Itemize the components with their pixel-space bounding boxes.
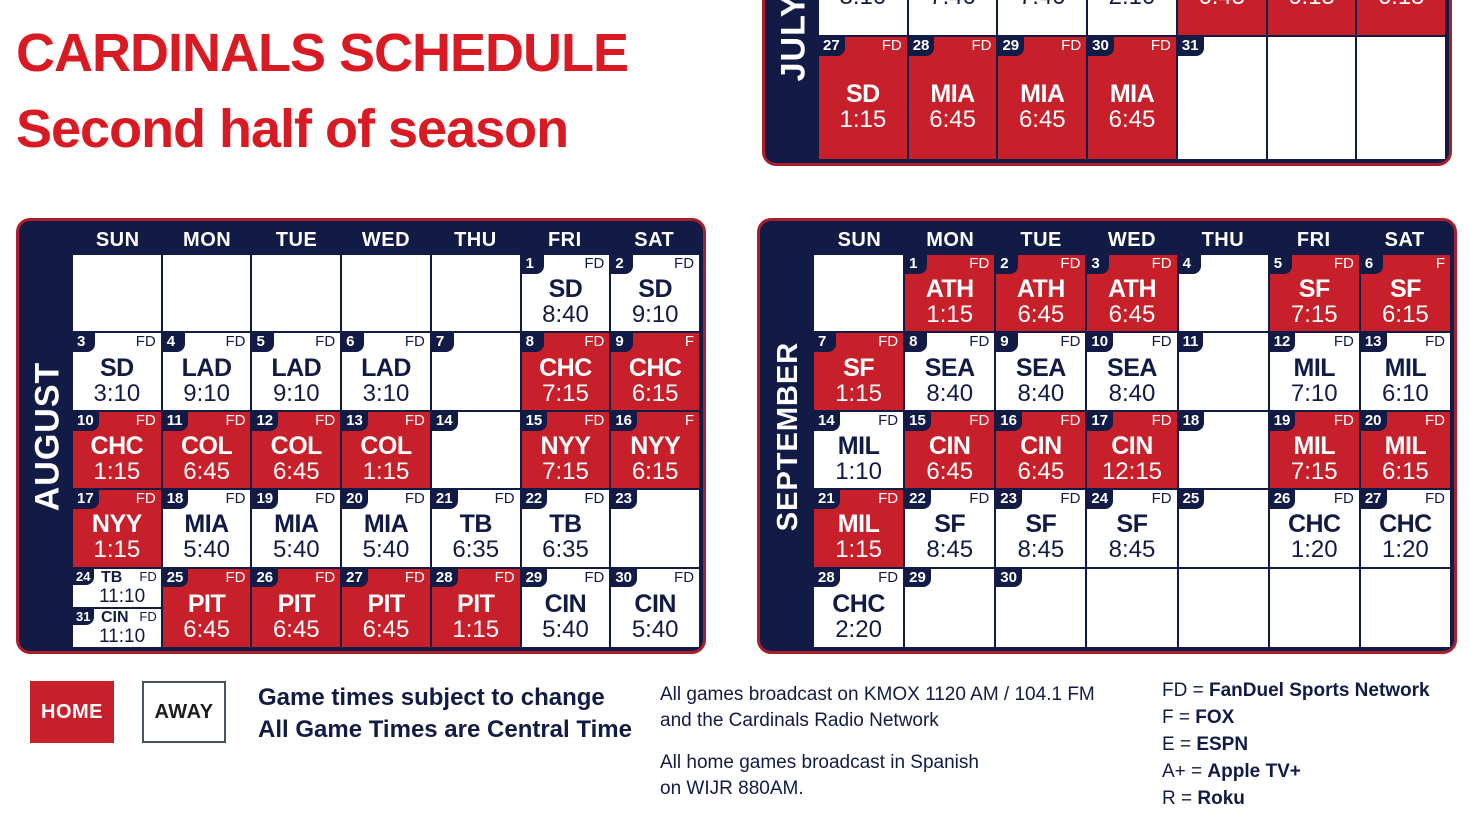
calendar-september: SEPTEMBER SUNMONTUEWEDTHUFRISAT1FDATH1:1… xyxy=(757,218,1457,654)
opponent-abbrev: SD xyxy=(638,277,672,302)
tv-legend-value: Apple TV+ xyxy=(1207,761,1300,782)
tv-legend-key: R = xyxy=(1162,788,1197,809)
calendar-cell-game[interactable]: 3FDSD3:10 xyxy=(73,333,163,411)
network-badge: FD xyxy=(674,256,694,272)
calendar-cell-game[interactable]: 17FDCIN12:15 xyxy=(1087,412,1178,490)
game-times-note-line1: Game times subject to change xyxy=(258,682,632,714)
calendar-cell-game[interactable]: 12FDMIL7:10 xyxy=(1270,333,1361,411)
cell-header: 20FD xyxy=(1361,412,1450,432)
day-number: 30 xyxy=(611,569,637,588)
cell-body: MIL6:15 xyxy=(1361,432,1450,488)
calendar-cell-game[interactable]: 8FDSEA8:40 xyxy=(905,333,996,411)
cell-body: MIL7:15 xyxy=(1270,432,1359,488)
game-time: 6:45 xyxy=(1017,302,1064,327)
dow-sun: SUN xyxy=(73,229,162,252)
network-badge: FD xyxy=(1060,413,1080,429)
calendar-cell-game[interactable]: 20FDARI3:10 xyxy=(819,0,909,37)
calendar-cell-game[interactable]: 30FDMIA6:45 xyxy=(1088,37,1178,159)
cell-header: 7FD xyxy=(814,333,903,353)
calendar-july: JULY 20FDARI3:1021FDCOL7:4022FDCOL7:4023… xyxy=(762,0,1452,166)
calendar-week-row: 21FDMIL1:1522FDSF8:4523FDSF8:4524FDSF8:4… xyxy=(814,490,1450,568)
cell-header: 27FD xyxy=(1361,490,1450,510)
day-number: 9 xyxy=(611,333,633,352)
cell-header xyxy=(1361,569,1450,589)
cell-header: 10FD xyxy=(73,412,161,432)
cell-body xyxy=(905,589,994,647)
opponent-abbrev: MIL xyxy=(838,434,880,459)
calendar-cell-game[interactable]: 11 xyxy=(1179,333,1270,411)
cell-body: MIL1:15 xyxy=(814,510,903,566)
cell-header xyxy=(814,255,903,275)
legend-home-swatch: HOME xyxy=(30,681,114,743)
calendar-cell-game[interactable]: 14FDMIL1:10 xyxy=(814,412,905,490)
opponent-abbrev: PIT xyxy=(188,592,225,617)
cell-header: 13FD xyxy=(342,412,430,432)
cell-body: MIL6:10 xyxy=(1361,353,1450,409)
footer: HOME AWAY Game times subject to change A… xyxy=(0,668,1470,814)
calendar-cell-game[interactable]: 21FDCOL7:40 xyxy=(909,0,999,37)
dow-wed: WED xyxy=(341,229,430,252)
day-number: 31 xyxy=(1178,37,1204,56)
cell-header: 30 xyxy=(996,569,1085,589)
game-time: 11:10 xyxy=(99,627,145,646)
cell-body: SD6:15 xyxy=(1268,0,1356,35)
network-badge: FD xyxy=(315,570,335,586)
calendar-half-cell[interactable]: 24TBFD11:10 xyxy=(73,569,161,607)
dow-thu: THU xyxy=(1177,229,1268,252)
cell-header: 5FD xyxy=(1270,255,1359,275)
calendar-cell-game[interactable]: 25 xyxy=(1179,490,1270,568)
calendar-cell-game[interactable]: 2FDSD9:10 xyxy=(611,255,699,333)
game-time: 6:35 xyxy=(542,537,589,562)
calendar-cell-game[interactable]: 17FDNYY1:15 xyxy=(73,490,163,568)
title-block: CARDINALS SCHEDULE Second half of season xyxy=(16,26,756,156)
cell-body: ATH6:45 xyxy=(996,275,1085,331)
calendar-cell-game[interactable]: 28FDMIA6:45 xyxy=(909,37,999,159)
calendar-week-row: 7FDSF1:158FDSEA8:409FDSEA8:4010FDSEA8:40… xyxy=(814,333,1450,411)
calendar-half-cell[interactable]: 31CINFD11:10 xyxy=(73,609,161,647)
calendar-cell-game[interactable]: 10FDCHC1:15 xyxy=(73,412,163,490)
day-number: 1 xyxy=(905,255,927,274)
radio-note-spanish: All home games broadcast in Spanish on W… xyxy=(660,750,979,801)
network-badge: FD xyxy=(584,413,604,429)
opponent-abbrev: MIL xyxy=(1294,434,1336,459)
calendar-cell-game[interactable]: 4FDLAD9:10 xyxy=(163,333,253,411)
opponent-abbrev: LAD xyxy=(182,356,232,381)
cell-body: PIT6:45 xyxy=(342,589,430,647)
calendar-cell-game[interactable]: 18FDMIA5:40 xyxy=(163,490,253,568)
network-badge: FD xyxy=(495,570,515,586)
day-number: 12 xyxy=(1270,333,1296,352)
game-times-note: Game times subject to change All Game Ti… xyxy=(258,682,632,747)
calendar-cell-game[interactable]: 21FDTB6:35 xyxy=(432,490,522,568)
calendar-cell-game[interactable]: 1FDSD8:40 xyxy=(522,255,612,333)
day-number: 30 xyxy=(1088,37,1114,56)
calendar-cell-game[interactable]: 10FDSEA8:40 xyxy=(1087,333,1178,411)
cell-header: 2FD xyxy=(611,255,699,275)
opponent-abbrev: CIN xyxy=(1020,434,1062,459)
calendar-cell-game[interactable]: 24FDSF8:45 xyxy=(1087,490,1178,568)
game-time: 1:15 xyxy=(835,537,882,562)
opponent-abbrev: MIL xyxy=(1294,356,1336,381)
game-time: 1:15 xyxy=(452,617,499,642)
network-badge: FD xyxy=(971,38,991,54)
opponent-abbrev: CHC xyxy=(832,592,885,617)
opponent-abbrev: COL xyxy=(181,434,232,459)
game-times-note-line2: All Game Times are Central Time xyxy=(258,714,632,746)
tv-legend-row: A+ = Apple TV+ xyxy=(1162,759,1430,786)
network-badge: FD xyxy=(136,413,156,429)
calendar-cell-game[interactable]: 22FDTB6:35 xyxy=(522,490,612,568)
game-time: 7:15 xyxy=(1291,459,1338,484)
calendar-cell-game[interactable]: 15FDCIN6:45 xyxy=(905,412,996,490)
network-badge: FD xyxy=(584,570,604,586)
day-number: 29 xyxy=(522,569,548,588)
radio-note-english: All games broadcast on KMOX 1120 AM / 10… xyxy=(660,682,1095,733)
cell-header: 15FD xyxy=(522,412,610,432)
day-number: 5 xyxy=(1270,255,1292,274)
cell-body: SF1:15 xyxy=(814,353,903,409)
calendar-cell-empty xyxy=(432,255,522,333)
calendar-cell-game[interactable]: 28FDCHC2:20 xyxy=(814,569,905,647)
opponent-abbrev: LAD xyxy=(361,356,411,381)
day-number: 23 xyxy=(611,490,637,509)
network-badge: FD xyxy=(1060,491,1080,507)
network-badge: FD xyxy=(1334,256,1354,272)
network-badge: FD xyxy=(1151,38,1171,54)
cell-body xyxy=(996,589,1085,647)
calendar-cell-game[interactable]: 30FDCIN5:40 xyxy=(611,569,699,647)
cell-body: NYY7:15 xyxy=(522,432,610,488)
cell-header: 28FD xyxy=(432,569,520,589)
calendar-cell-game[interactable]: 23FDSF8:45 xyxy=(996,490,1087,568)
day-number: 10 xyxy=(1087,333,1113,352)
day-number: 28 xyxy=(814,569,840,588)
opponent-abbrev: CIN xyxy=(545,592,587,617)
cell-body: CHC1:20 xyxy=(1270,510,1359,566)
calendar-week-row: 1FDATH1:152FDATH6:453FDATH6:4545FDSF7:15… xyxy=(814,255,1450,333)
network-badge: FD xyxy=(1060,256,1080,272)
calendar-cell-game[interactable]: 15FDNYY7:15 xyxy=(522,412,612,490)
opponent-abbrev: COL xyxy=(360,434,411,459)
calendar-cell-game[interactable]: 25FDSD6:15 xyxy=(1268,0,1358,37)
day-number: 14 xyxy=(432,412,458,431)
network-badge: FD xyxy=(969,413,989,429)
cell-header xyxy=(342,255,430,275)
network-badge: FD xyxy=(225,413,245,429)
page-title: CARDINALS SCHEDULE xyxy=(16,26,756,80)
calendar-cell-split[interactable]: 24TBFD11:1031CINFD11:10 xyxy=(73,569,163,647)
network-badge: FD xyxy=(969,334,989,350)
calendar-cell-empty xyxy=(73,255,163,333)
calendar-cell-game[interactable]: 4 xyxy=(1179,255,1270,333)
cell-header: 2FD xyxy=(996,255,1085,275)
cell-header: 27FD xyxy=(342,569,430,589)
opponent-abbrev: MIL xyxy=(838,512,880,537)
calendar-cell-game[interactable]: 26FDPIT6:45 xyxy=(252,569,342,647)
calendar-cell-game[interactable]: 31 xyxy=(1178,37,1268,159)
cell-header: 3FD xyxy=(73,333,161,353)
cell-header: 21FD xyxy=(814,490,903,510)
calendar-cell-game[interactable]: 29 xyxy=(905,569,996,647)
cell-header: 29FD xyxy=(522,569,610,589)
tv-legend-value: FOX xyxy=(1195,707,1234,728)
day-number: 27 xyxy=(342,569,368,588)
cell-body xyxy=(1178,57,1266,159)
cell-body: SF8:45 xyxy=(1087,510,1176,566)
calendar-cell-game[interactable]: 6FDLAD3:10 xyxy=(342,333,432,411)
calendar-cell-game[interactable]: 8FDCHC7:15 xyxy=(522,333,612,411)
calendar-cell-game[interactable]: 16FNYY6:15 xyxy=(611,412,699,490)
game-time: 12:15 xyxy=(1102,459,1162,484)
cell-header: 9FD xyxy=(996,333,1085,353)
network-badge: FD xyxy=(405,570,425,586)
day-number: 11 xyxy=(163,412,188,431)
cell-body: CIN6:45 xyxy=(905,432,994,488)
calendar-cell-game[interactable]: 27FDSD1:15 xyxy=(819,37,909,159)
day-of-week-header: SUNMONTUEWEDTHUFRISAT xyxy=(814,225,1450,255)
game-time: 8:45 xyxy=(926,537,973,562)
month-label-july: JULY xyxy=(769,0,819,159)
game-time: 6:15 xyxy=(632,459,679,484)
calendar-cell-game[interactable]: 27FDCHC1:20 xyxy=(1361,490,1450,568)
opponent-abbrev: TB xyxy=(549,512,581,537)
cell-header xyxy=(163,255,251,275)
calendar-cell-game[interactable]: 22FDCOL7:40 xyxy=(998,0,1088,37)
cell-header: 22FD xyxy=(522,490,610,510)
cell-header: 30FD xyxy=(1088,37,1176,57)
cell-body: MIA5:40 xyxy=(252,510,340,566)
cell-body: ATH1:15 xyxy=(905,275,994,331)
opponent-abbrev: MIA xyxy=(274,512,318,537)
cell-body xyxy=(342,275,430,331)
calendar-cell-game[interactable]: 13FDCOL1:15 xyxy=(342,412,432,490)
calendar-cell-game[interactable]: 12FDCOL6:45 xyxy=(252,412,342,490)
calendar-cell-empty xyxy=(252,255,342,333)
cell-body: MIA5:40 xyxy=(163,510,251,566)
calendar-cell-game[interactable]: 16FDCIN6:45 xyxy=(996,412,1087,490)
cell-body: SF8:45 xyxy=(905,510,994,566)
game-time: 6:45 xyxy=(1019,107,1066,132)
network-badge: FD xyxy=(1425,334,1445,350)
opponent-abbrev: TB xyxy=(460,512,492,537)
opponent-abbrev: MIL xyxy=(1385,356,1427,381)
game-time: 7:40 xyxy=(1019,0,1066,9)
game-time: 6:45 xyxy=(273,459,320,484)
calendar-cell-game[interactable]: 24FDSD6:45 xyxy=(1178,0,1268,37)
day-number: 27 xyxy=(1361,490,1387,509)
month-label-august: AUGUST xyxy=(23,225,73,647)
cell-header: 21FD xyxy=(432,490,520,510)
cell-body: MIA6:45 xyxy=(1088,57,1176,159)
cell-body: SEA8:40 xyxy=(1087,353,1176,409)
cell-body: SD6:45 xyxy=(1178,0,1266,35)
day-number: 3 xyxy=(1087,255,1109,274)
day-number: 4 xyxy=(163,333,185,352)
calendar-cell-game[interactable]: 26FDCHC1:20 xyxy=(1270,490,1361,568)
day-number: 13 xyxy=(342,412,368,431)
day-number: 21 xyxy=(432,490,458,509)
calendar-cell-game[interactable]: 22FDSF8:45 xyxy=(905,490,996,568)
game-time: 5:40 xyxy=(363,537,410,562)
calendar-cell-game[interactable]: 28FDPIT1:15 xyxy=(432,569,522,647)
cell-body: CHC6:15 xyxy=(611,353,699,409)
day-number: 1 xyxy=(522,255,544,274)
calendar-cell-empty xyxy=(1268,37,1358,159)
dow-thu: THU xyxy=(431,229,520,252)
calendar-cell-game[interactable]: 9FCHC6:15 xyxy=(611,333,699,411)
calendar-cell-game[interactable]: 26FDSD6:15 xyxy=(1357,0,1445,37)
calendar-week-row: 3FDSD3:104FDLAD9:105FDLAD9:106FDLAD3:107… xyxy=(73,333,699,411)
opponent-abbrev: SEA xyxy=(1107,356,1157,381)
calendar-cell-game[interactable]: 5FDSF7:15 xyxy=(1270,255,1361,333)
day-number: 8 xyxy=(522,333,544,352)
cell-body: COL1:15 xyxy=(342,432,430,488)
calendar-cell-game[interactable]: 20FDMIA5:40 xyxy=(342,490,432,568)
calendar-cell-game[interactable]: 6FSF6:15 xyxy=(1361,255,1450,333)
day-number: 30 xyxy=(996,569,1022,588)
day-number: 20 xyxy=(1361,412,1387,431)
cell-body: MIL1:10 xyxy=(814,432,903,488)
calendar-week-row: 24TBFD11:1031CINFD11:1025FDPIT6:4526FDPI… xyxy=(73,569,699,647)
game-time: 2:10 xyxy=(1109,0,1156,9)
radio-note-spanish-line1: All home games broadcast in Spanish xyxy=(660,750,979,776)
day-number: 13 xyxy=(1361,333,1387,352)
cell-header: 23FD xyxy=(996,490,1085,510)
day-number: 29 xyxy=(998,37,1024,56)
network-badge: FD xyxy=(136,334,156,350)
cell-body xyxy=(252,275,340,331)
day-number: 17 xyxy=(73,490,99,509)
cell-body: CIN5:40 xyxy=(522,589,610,647)
cell-body: SF6:15 xyxy=(1361,275,1450,331)
day-number: 2 xyxy=(611,255,633,274)
radio-note-english-line2: and the Cardinals Radio Network xyxy=(660,708,1095,734)
cell-body: PIT1:15 xyxy=(432,589,520,647)
cell-body: MIL7:10 xyxy=(1270,353,1359,409)
tv-legend-row: F = FOX xyxy=(1162,705,1430,732)
cell-header xyxy=(1087,569,1176,589)
opponent-abbrev: SF xyxy=(1299,277,1330,302)
calendar-cell-game[interactable]: 1FDATH1:15 xyxy=(905,255,996,333)
game-time: 6:45 xyxy=(1109,107,1156,132)
calendar-august: AUGUST SUNMONTUEWEDTHUFRISAT1FDSD8:402FD… xyxy=(16,218,706,654)
opponent-abbrev: SF xyxy=(1117,512,1148,537)
cell-body xyxy=(1179,353,1268,409)
calendar-cell-game[interactable]: 23 xyxy=(611,490,699,568)
cell-header: 12FD xyxy=(252,412,340,432)
cell-body xyxy=(163,275,251,331)
dow-mon: MON xyxy=(905,229,996,252)
calendar-cell-game[interactable]: 25FDPIT6:45 xyxy=(163,569,253,647)
opponent-abbrev: SEA xyxy=(1016,356,1066,381)
day-number: 25 xyxy=(1179,490,1205,509)
game-time: 6:45 xyxy=(929,107,976,132)
cell-body: SD6:15 xyxy=(1357,0,1445,35)
opponent-abbrev: ATH xyxy=(1108,277,1156,302)
calendar-cell-empty xyxy=(814,255,905,333)
cell-body xyxy=(611,510,699,566)
calendar-cell-game[interactable]: 20FDMIL6:15 xyxy=(1361,412,1450,490)
cell-body xyxy=(1270,589,1359,647)
day-number: 18 xyxy=(1179,412,1205,431)
calendar-cell-game[interactable]: 19FDMIL7:15 xyxy=(1270,412,1361,490)
tv-legend-row: E = ESPN xyxy=(1162,732,1430,759)
calendar-week-row: 17FDNYY1:1518FDMIA5:4019FDMIA5:4020FDMIA… xyxy=(73,490,699,568)
day-number: 27 xyxy=(819,37,845,56)
cell-header: 14 xyxy=(432,412,520,432)
calendar-cell-game[interactable]: 27FDPIT6:45 xyxy=(342,569,432,647)
game-time: 3:10 xyxy=(94,381,141,406)
calendar-cell-game[interactable]: 11FDCOL6:45 xyxy=(163,412,253,490)
cell-header: 11 xyxy=(1179,333,1268,353)
opponent-abbrev: SF xyxy=(1025,512,1056,537)
game-time: 6:45 xyxy=(183,459,230,484)
cell-header: 16F xyxy=(611,412,699,432)
game-time: 6:45 xyxy=(926,459,973,484)
cell-body: SD8:40 xyxy=(522,275,610,331)
game-time: 9:10 xyxy=(632,302,679,327)
game-time: 7:15 xyxy=(542,459,589,484)
cell-header: 22FD xyxy=(905,490,994,510)
day-number: 23 xyxy=(996,490,1022,509)
legend-away-label: AWAY xyxy=(154,701,213,724)
calendar-cell-game[interactable]: 30 xyxy=(996,569,1087,647)
calendar-cell-empty xyxy=(342,255,432,333)
opponent-abbrev: LAD xyxy=(271,356,321,381)
tv-legend-key: A+ = xyxy=(1162,761,1207,782)
cell-body: CIN5:40 xyxy=(611,589,699,647)
cell-body: SEA8:40 xyxy=(905,353,994,409)
cell-body: PIT6:45 xyxy=(163,589,251,647)
calendar-cell-game[interactable]: 7 xyxy=(432,333,522,411)
calendar-cell-game[interactable]: 9FDSEA8:40 xyxy=(996,333,1087,411)
calendar-cell-game[interactable]: 29FDMIA6:45 xyxy=(998,37,1088,159)
cell-body: COL7:40 xyxy=(998,0,1086,35)
tv-legend-key: FD = xyxy=(1162,680,1209,701)
calendar-cell-game[interactable]: 29FDCIN5:40 xyxy=(522,569,612,647)
game-time: 1:20 xyxy=(1291,537,1338,562)
opponent-abbrev: CHC xyxy=(1288,512,1341,537)
game-time: 7:10 xyxy=(1291,381,1338,406)
calendar-cell-game[interactable]: 13FDMIL6:10 xyxy=(1361,333,1450,411)
calendar-cell-game[interactable]: 14 xyxy=(432,412,522,490)
network-badge: FD xyxy=(969,256,989,272)
calendar-cell-game[interactable]: 2FDATH6:45 xyxy=(996,255,1087,333)
network-badge: FD xyxy=(225,491,245,507)
game-time: 7:40 xyxy=(929,0,976,9)
cell-header: 8FD xyxy=(522,333,610,353)
calendar-cell-game[interactable]: 5FDLAD9:10 xyxy=(252,333,342,411)
calendar-cell-game[interactable]: 21FDMIL1:15 xyxy=(814,490,905,568)
day-number: 9 xyxy=(996,333,1018,352)
calendar-cell-game[interactable]: 23FDCOL2:10 xyxy=(1088,0,1178,37)
cell-header: 28FD xyxy=(909,37,997,57)
calendar-cell-game[interactable]: 7FDSF1:15 xyxy=(814,333,905,411)
day-number: 11 xyxy=(1179,333,1204,352)
calendar-cell-game[interactable]: 19FDMIA5:40 xyxy=(252,490,342,568)
opponent-abbrev: NYY xyxy=(92,512,142,537)
opponent-abbrev: CHC xyxy=(1379,512,1432,537)
network-badge: FD xyxy=(1152,413,1172,429)
calendar-cell-game[interactable]: 3FDATH6:45 xyxy=(1087,255,1178,333)
calendar-cell-empty xyxy=(163,255,253,333)
page-subtitle: Second half of season xyxy=(16,102,756,156)
calendar-cell-game[interactable]: 18 xyxy=(1179,412,1270,490)
network-badge: FD xyxy=(878,491,898,507)
dow-mon: MON xyxy=(162,229,251,252)
cell-body xyxy=(1268,57,1356,159)
